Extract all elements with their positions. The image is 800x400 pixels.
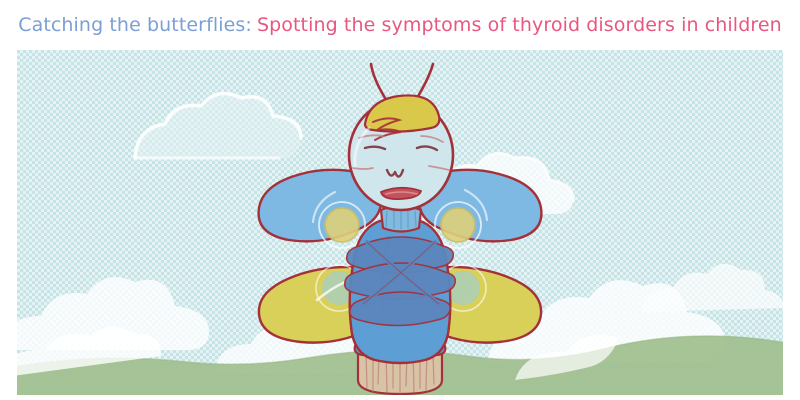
illustration-artwork — [17, 50, 783, 395]
wing-spot-upper-left — [325, 208, 359, 242]
cloud-outline-upper-left — [135, 94, 301, 159]
page-title-lead: Catching the butterflies: — [18, 14, 252, 36]
hair-tuft — [365, 95, 439, 131]
antenna-left — [371, 64, 385, 98]
page-title-accent: Spotting the symptoms of thyroid disorde… — [257, 14, 782, 36]
wing-spot-upper-right — [441, 208, 475, 242]
page-title: Catching the butterflies: Spotting the s… — [0, 0, 800, 50]
page-root: Catching the butterflies: Spotting the s… — [0, 0, 800, 400]
antenna-right — [417, 64, 433, 98]
character-head — [349, 95, 453, 210]
antennae — [371, 64, 433, 98]
rope-coils — [345, 237, 456, 326]
illustration-panel — [17, 50, 783, 395]
